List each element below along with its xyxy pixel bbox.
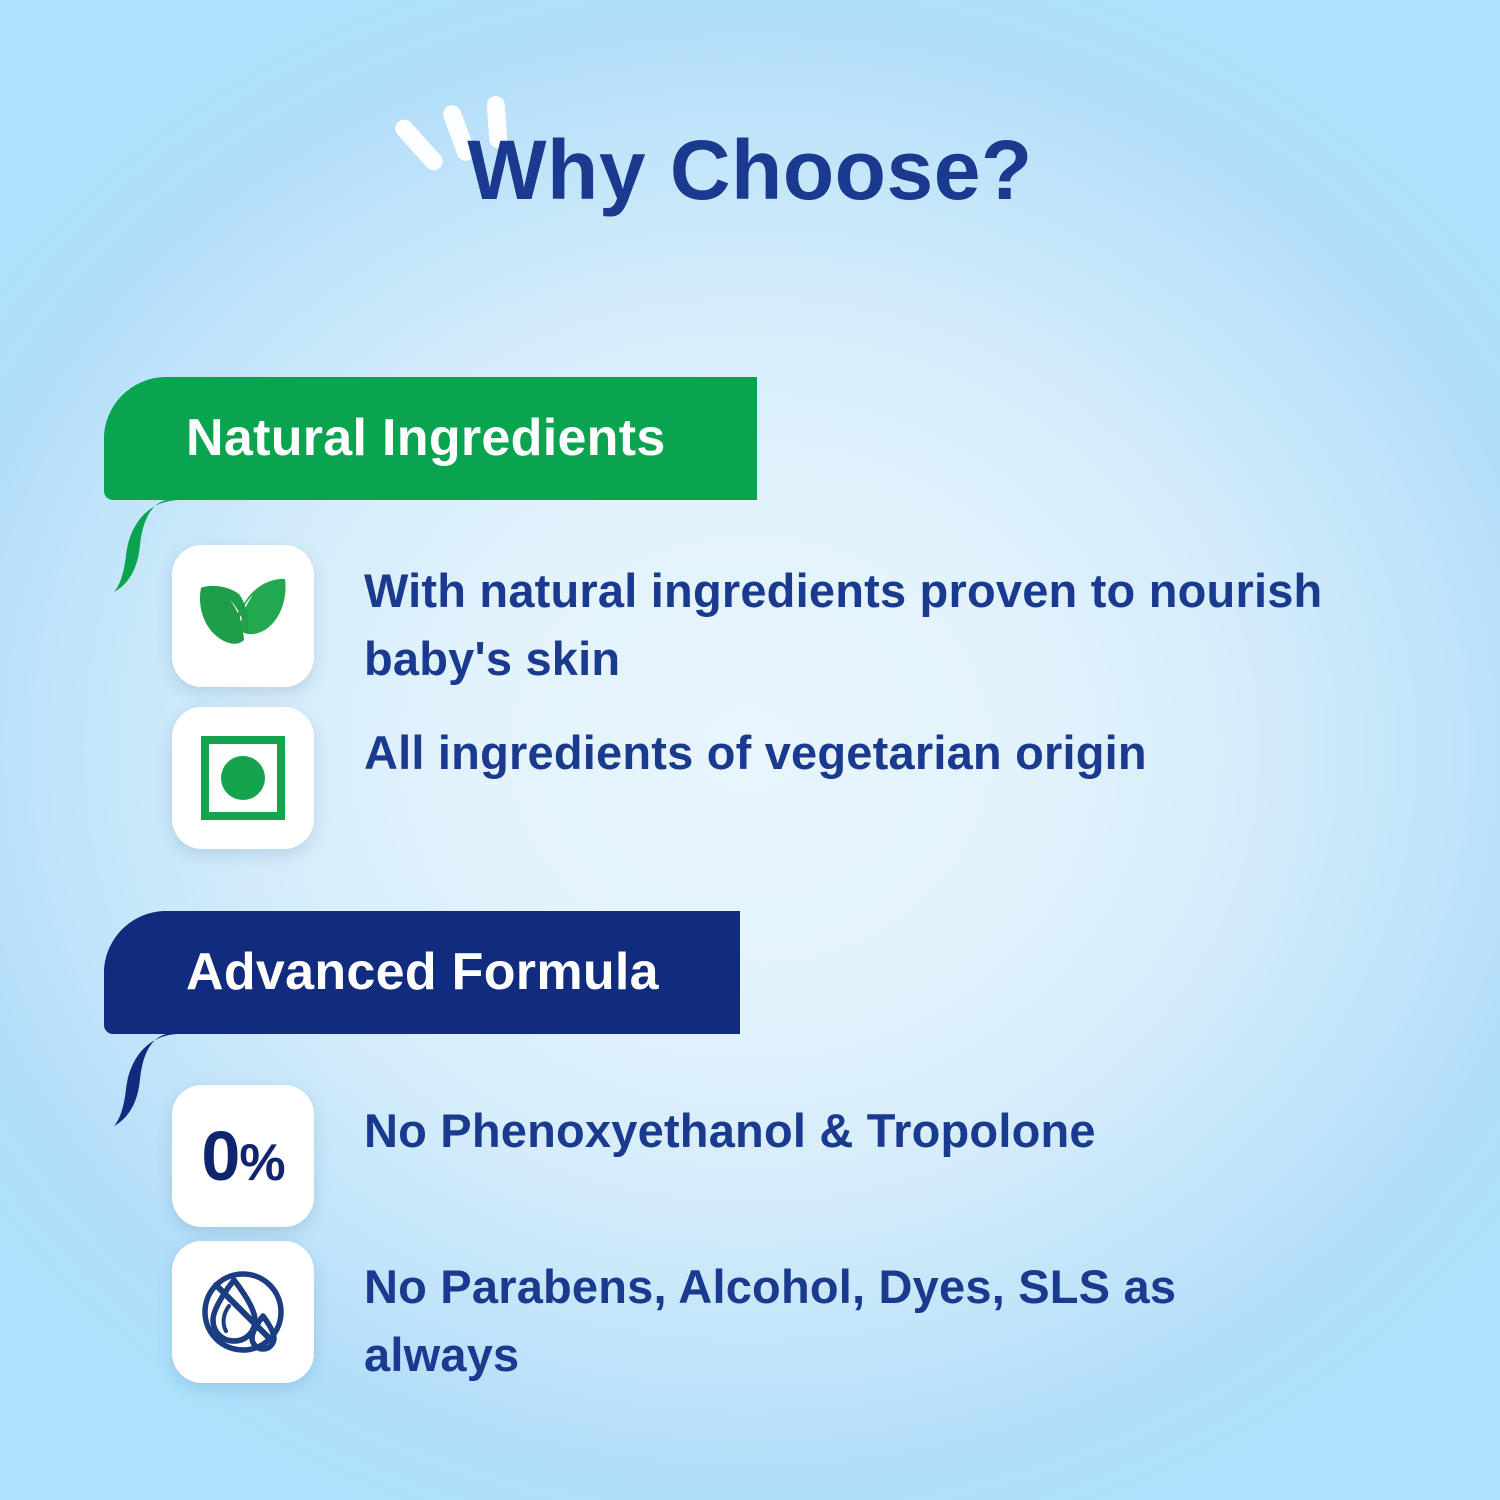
leaves-icon xyxy=(172,545,314,687)
vegetarian-mark-icon xyxy=(172,707,314,849)
feature-row: All ingredients of vegetarian origin xyxy=(0,707,1500,849)
feature-text: All ingredients of vegetarian origin xyxy=(314,707,1324,787)
feature-list-natural: With natural ingredients proven to nouri… xyxy=(0,545,1500,863)
leaves-glyph xyxy=(195,568,291,664)
feature-text: With natural ingredients proven to nouri… xyxy=(314,545,1324,693)
page-title: Why Choose? xyxy=(467,128,1033,212)
vegetarian-mark-glyph xyxy=(200,735,286,821)
banner-label-advanced: Advanced Formula xyxy=(186,933,659,1011)
zero-percent-glyph: 0% xyxy=(201,1121,284,1191)
banner-label-natural: Natural Ingredients xyxy=(186,399,666,477)
feature-row: 0% No Phenoxyethanol & Tropolone xyxy=(0,1085,1500,1227)
zero-percent-icon: 0% xyxy=(172,1085,314,1227)
percent-sign: % xyxy=(239,1134,284,1192)
feature-text: No Parabens, Alcohol, Dyes, SLS as alway… xyxy=(314,1241,1324,1389)
feature-text: No Phenoxyethanol & Tropolone xyxy=(314,1085,1324,1165)
feature-row: With natural ingredients proven to nouri… xyxy=(0,545,1500,693)
feature-list-advanced: 0% No Phenoxyethanol & Tropolone No Para… xyxy=(0,1085,1500,1403)
feature-row: No Parabens, Alcohol, Dyes, SLS as alway… xyxy=(0,1241,1500,1389)
why-choose-poster: Why Choose? Natural Ingredients With nat… xyxy=(0,0,1500,1500)
no-water-drops-glyph xyxy=(193,1262,293,1362)
title-area: Why Choose? xyxy=(0,128,1500,212)
zero-percent-value: 0 xyxy=(201,1117,239,1195)
no-water-drops-icon xyxy=(172,1241,314,1383)
